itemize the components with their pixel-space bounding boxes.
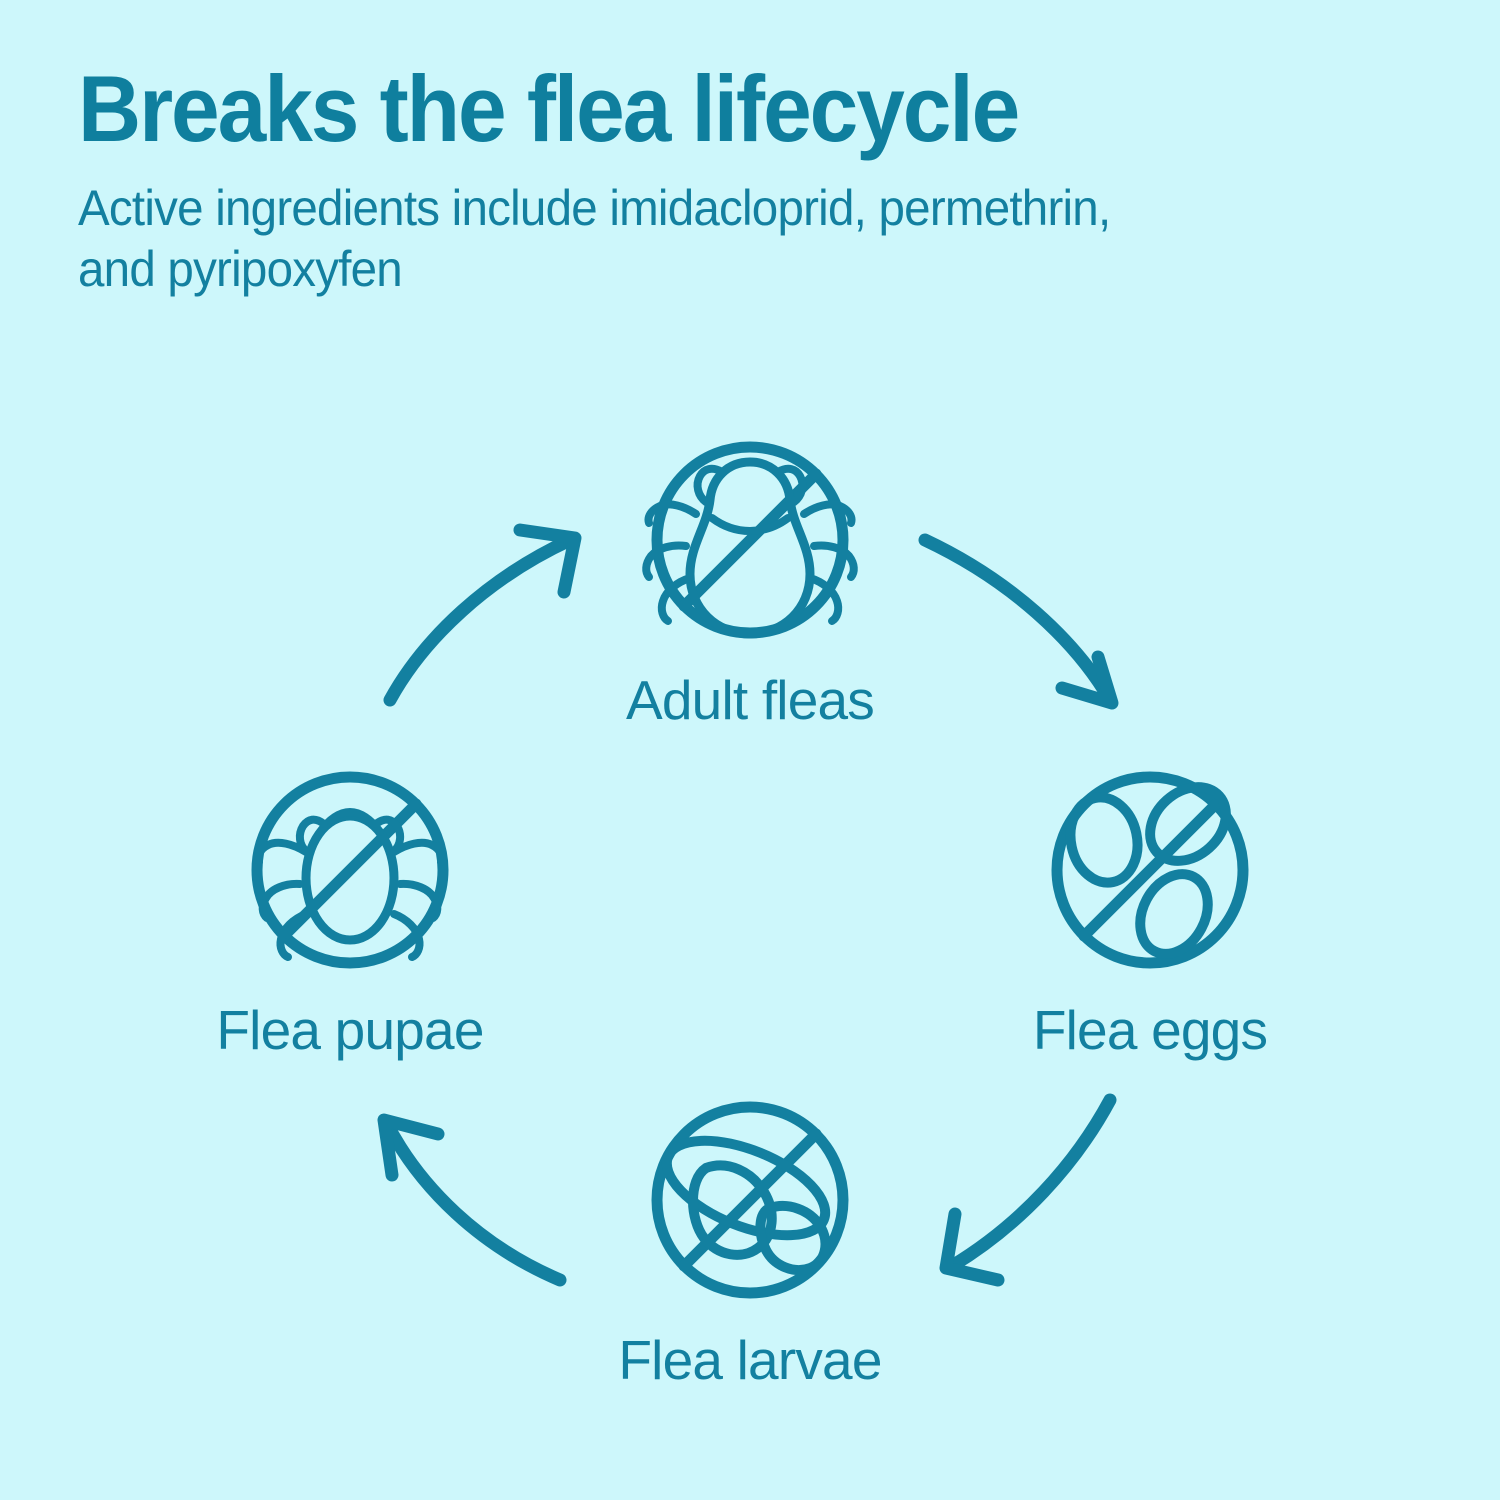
node-label-flea-larvae: Flea larvae — [0, 1328, 1500, 1392]
header: Breaks the flea lifecycle Active ingredi… — [78, 62, 1438, 300]
curved-arrow-icon-eggs-to-larvae — [946, 1100, 1110, 1280]
no-eggs-icon — [1057, 772, 1243, 966]
no-flea-icon — [646, 447, 854, 634]
node-label-adult-fleas: Adult fleas — [0, 668, 1500, 732]
page-subtitle: Active ingredients include imidacloprid,… — [78, 178, 1199, 300]
node-label-flea-pupae: Flea pupae — [0, 998, 700, 1062]
infographic-canvas: Breaks the flea lifecycle Active ingredi… — [0, 0, 1500, 1500]
node-label-flea-eggs: Flea eggs — [800, 998, 1500, 1062]
flea-lifecycle-diagram: Adult fleas Flea eggs Flea larvae Flea p… — [0, 400, 1500, 1500]
curved-arrow-icon-larvae-to-pupae — [384, 1120, 560, 1280]
no-larvae-icon — [654, 1107, 843, 1293]
no-pupae-icon — [257, 777, 443, 963]
page-title: Breaks the flea lifecycle — [78, 62, 1343, 156]
